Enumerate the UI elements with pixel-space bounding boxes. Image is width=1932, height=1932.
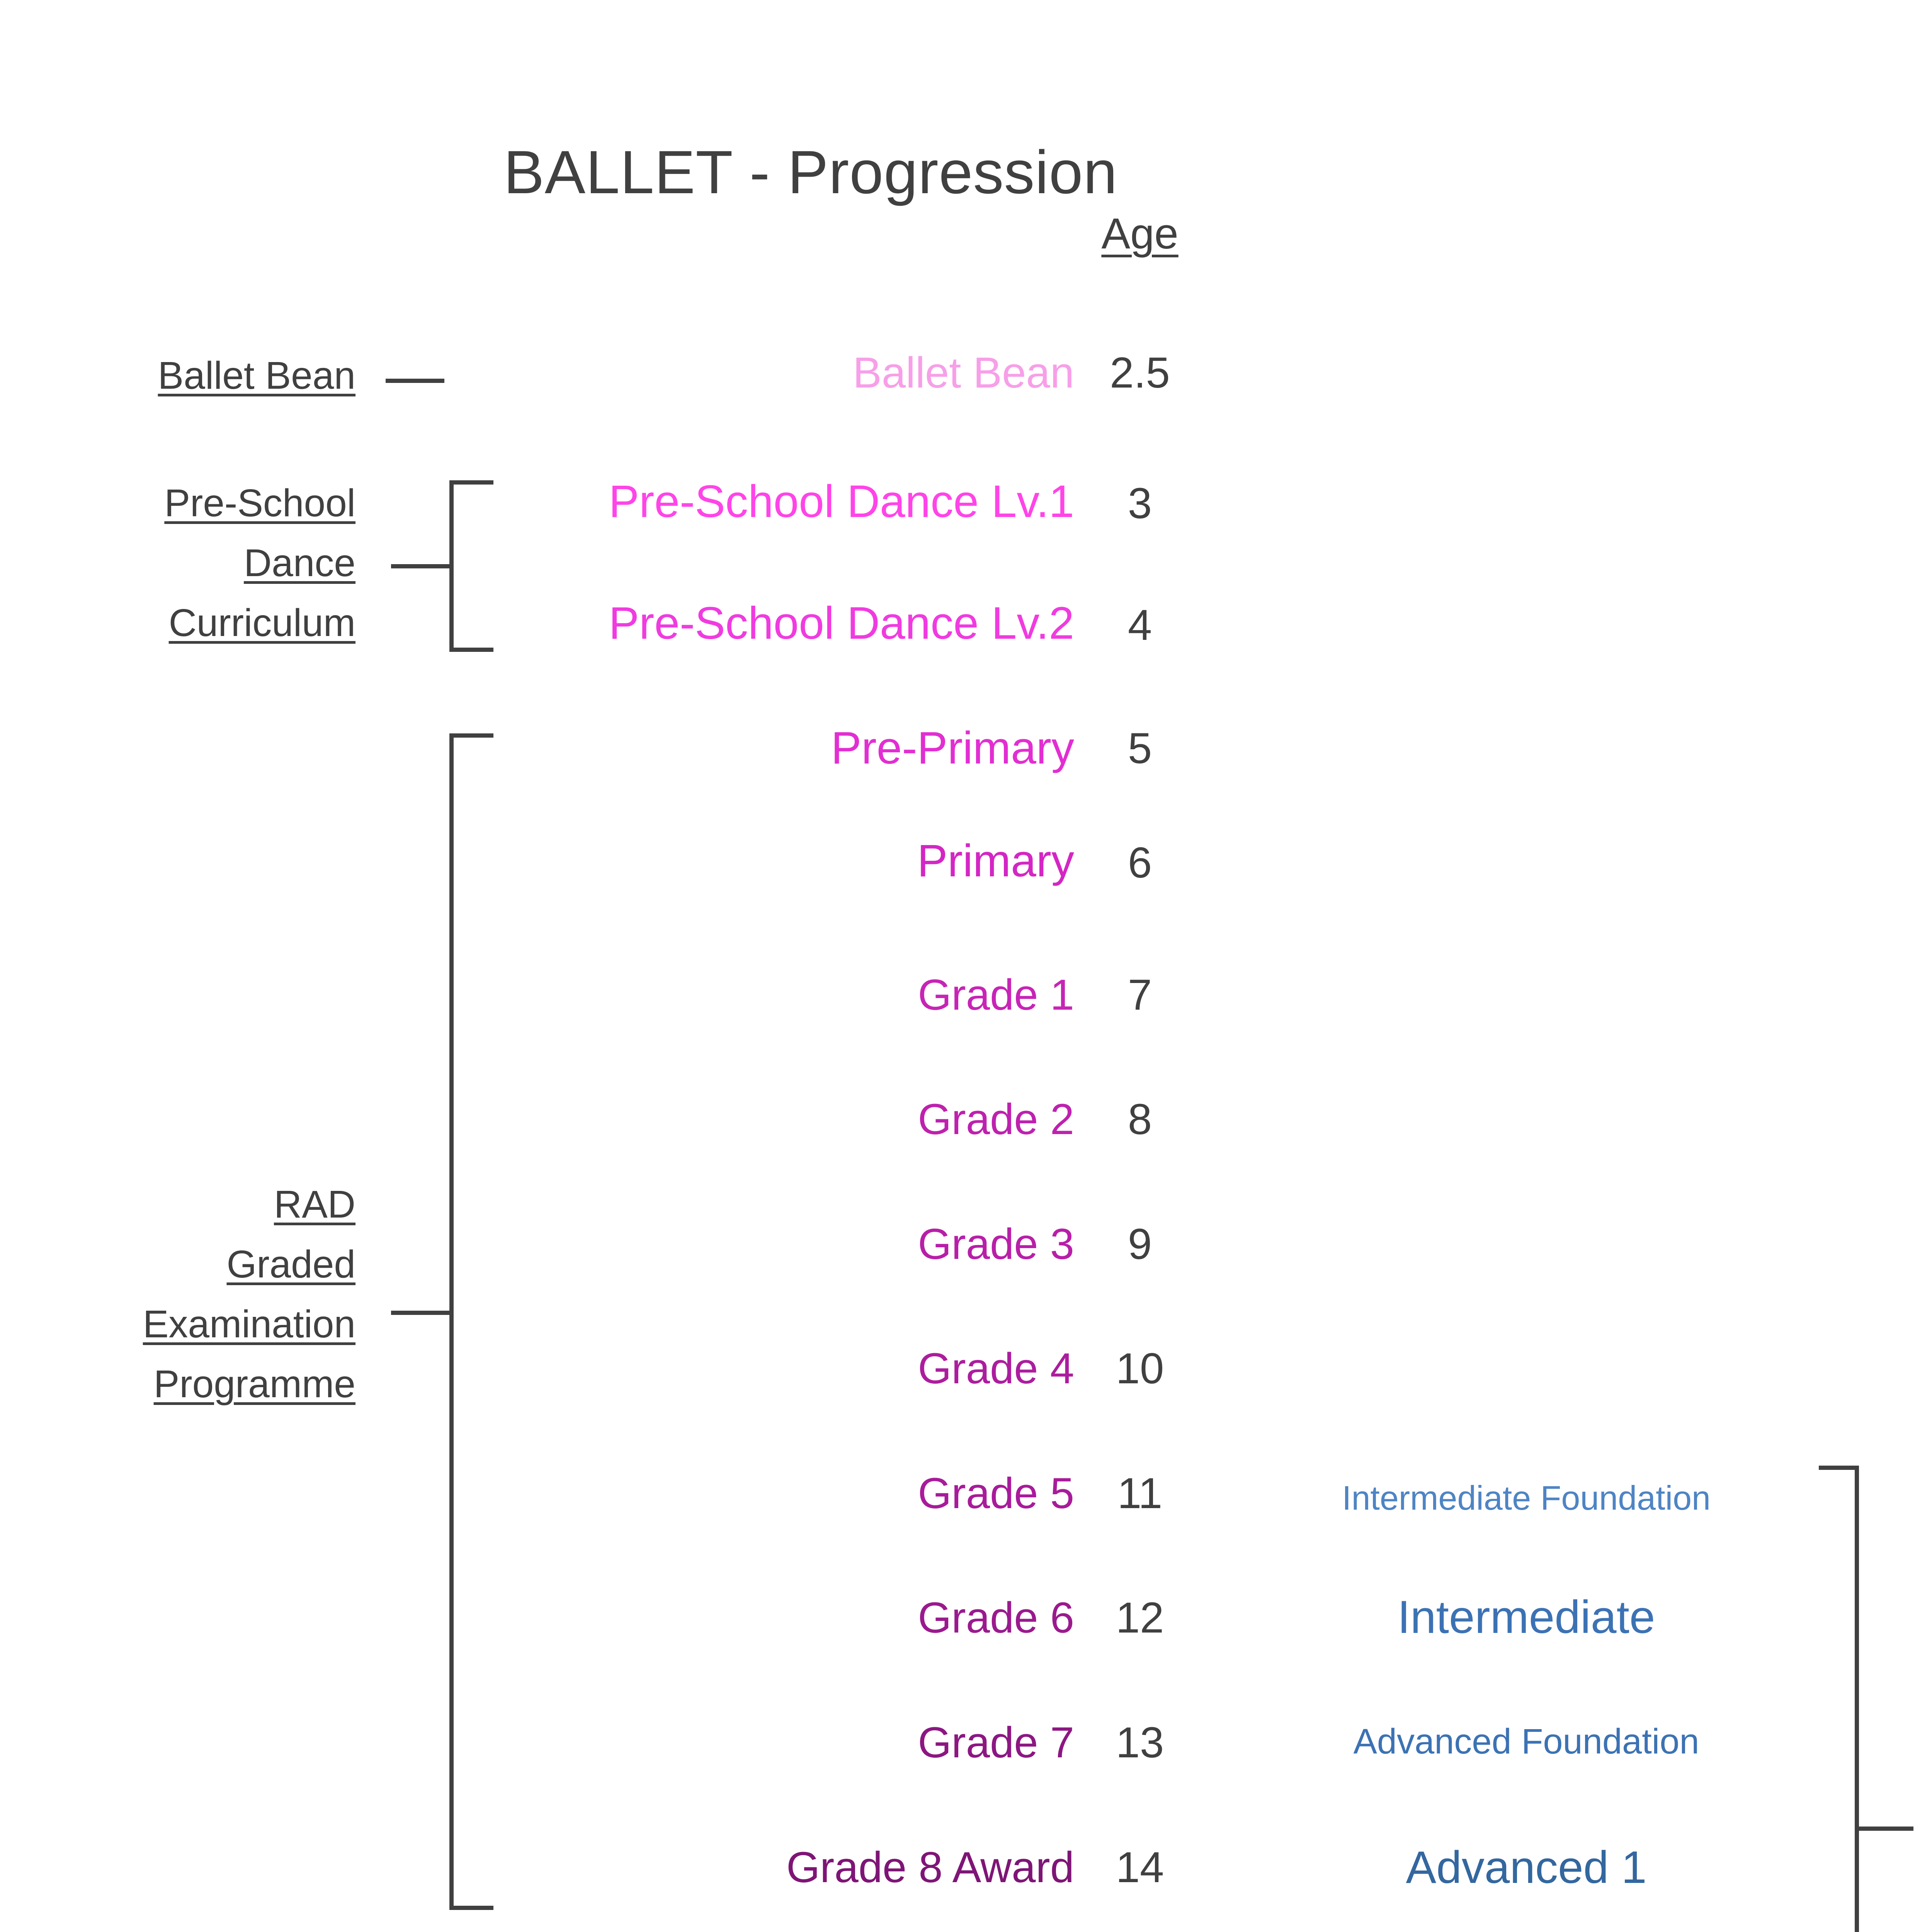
group-label-line: Programme — [23, 1354, 355, 1414]
bracket-preschool-arm-bottom — [449, 648, 493, 652]
age-value-pre-school-dance-lv2: 4 — [1028, 600, 1252, 650]
bracket-rad-vocational-arm-top — [1819, 1466, 1859, 1470]
age-value-ballet-bean: 2.5 — [1028, 348, 1252, 398]
vocational-item-advanced-foundation: Advanced Foundation — [1225, 1721, 1828, 1762]
vocational-item-advanced-1: Advanced 1 — [1225, 1841, 1828, 1894]
group-label-line: Vocational — [1928, 1704, 1932, 1764]
group-label-line: Examination — [23, 1294, 355, 1354]
bracket-rad-graded-arm-top — [449, 733, 493, 738]
grade-item-grade-7: Grade 7 — [510, 1718, 1074, 1767]
age-value-grade-2: 8 — [1028, 1094, 1252, 1144]
grade-item-grade-5: Grade 5 — [510, 1468, 1074, 1518]
group-label-rad-graded-examination-programme: RAD Graded Examination Programme — [23, 1175, 355, 1414]
group-label-rad-vocational-graded-examination-programme: RAD Vocational Graded Examination Progra… — [1928, 1644, 1932, 1932]
age-value-grade-3: 9 — [1028, 1219, 1252, 1269]
age-value-grade-8-award: 14 — [1028, 1842, 1252, 1892]
grade-item-pre-school-dance-lv2: Pre-School Dance Lv.2 — [510, 597, 1074, 650]
grade-item-grade-6: Grade 6 — [510, 1593, 1074, 1643]
connector-line-rad-graded — [391, 1311, 450, 1315]
age-value-pre-primary: 5 — [1028, 723, 1252, 773]
grade-item-pre-school-dance-lv1: Pre-School Dance Lv.1 — [510, 475, 1074, 528]
vocational-item-intermediate-foundation: Intermediate Foundation — [1225, 1478, 1828, 1518]
group-label-line: Examination — [1928, 1824, 1932, 1884]
connector-line-preschool — [391, 564, 450, 568]
group-label-line: Dance — [39, 533, 355, 593]
group-label-ballet-bean: Ballet Bean — [39, 346, 355, 406]
grade-item-ballet-bean: Ballet Bean — [510, 348, 1074, 398]
bracket-rad-graded-spine — [449, 733, 454, 1910]
age-value-grade-1: 7 — [1028, 970, 1252, 1020]
grade-item-grade-2: Grade 2 — [510, 1094, 1074, 1144]
bracket-rad-graded-arm-bottom — [449, 1906, 493, 1910]
connector-line-rad-vocational — [1855, 1827, 1913, 1831]
bracket-preschool-arm-top — [449, 480, 493, 485]
group-label-line: Ballet Bean — [39, 346, 355, 406]
grade-item-grade-4: Grade 4 — [510, 1344, 1074, 1393]
grade-item-grade-3: Grade 3 — [510, 1219, 1074, 1269]
group-label-line: Pre-School — [39, 473, 355, 533]
bracket-preschool-spine — [449, 480, 454, 652]
connector-line-ballet-bean — [386, 379, 444, 383]
group-label-line: Graded — [23, 1235, 355, 1294]
age-value-grade-6: 12 — [1028, 1593, 1252, 1643]
age-value-primary: 6 — [1028, 838, 1252, 888]
age-value-grade-5: 11 — [1028, 1468, 1252, 1518]
bracket-rad-vocational-spine — [1855, 1466, 1859, 1932]
group-label-line: Programme — [1928, 1884, 1932, 1932]
group-label-line: RAD — [23, 1175, 355, 1235]
page-title-text: BALLET - Progression — [503, 138, 1117, 206]
group-label-line: RAD — [1928, 1644, 1932, 1704]
ballet-progression-diagram: BALLET - Progression Age Ballet Bean Pre… — [0, 0, 1932, 1932]
grade-item-primary: Primary — [510, 835, 1074, 887]
group-label-preschool-dance-curriculum: Pre-School Dance Curriculum — [39, 473, 355, 653]
grade-item-pre-primary: Pre-Primary — [510, 722, 1074, 774]
page-title: BALLET - Progression — [0, 68, 1932, 277]
age-value-pre-school-dance-lv1: 3 — [1028, 478, 1252, 528]
age-column-header: Age — [1028, 209, 1252, 259]
age-value-grade-7: 13 — [1028, 1718, 1252, 1767]
group-label-line: Curriculum — [39, 593, 355, 653]
vocational-item-intermediate: Intermediate — [1225, 1590, 1828, 1644]
age-value-grade-4: 10 — [1028, 1344, 1252, 1393]
grade-item-grade-1: Grade 1 — [510, 970, 1074, 1020]
grade-item-grade-8-award: Grade 8 Award — [510, 1842, 1074, 1892]
group-label-line: Graded — [1928, 1764, 1932, 1824]
